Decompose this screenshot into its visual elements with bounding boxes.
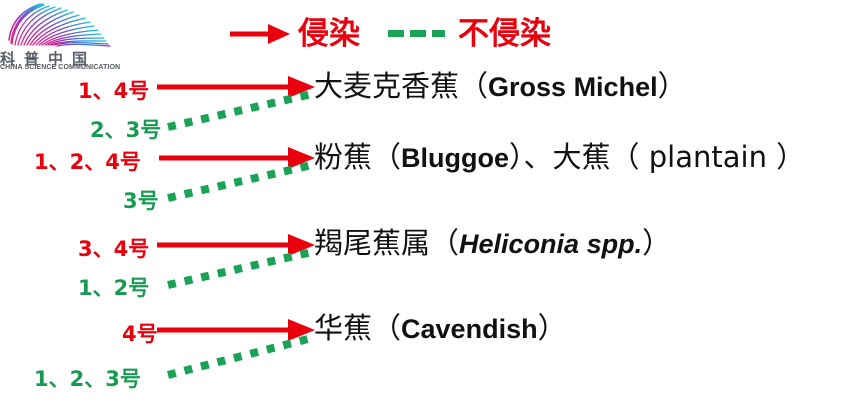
row-3-species: 羯尾蕉属（Heliconia spp.）: [314, 229, 671, 259]
legend-item-infect: 侵染: [228, 19, 360, 50]
legend-item-not-infect: 不侵染: [386, 19, 551, 50]
row-3-species-cn: 羯尾蕉属: [314, 226, 430, 260]
row-2-species-latin: Bluggoe: [401, 143, 509, 173]
infect-arrow-row-2: [159, 147, 315, 169]
not-infect-dashed-row-1: [168, 94, 312, 127]
row-4-infect-races-label: 4号: [122, 324, 158, 345]
row-3-species-open-paren: （: [430, 226, 459, 260]
row-4-species-close-paren: ）: [538, 311, 567, 345]
not-infect-dashed-row-3: [168, 252, 312, 285]
infect-arrow-row-1: [157, 76, 315, 98]
row-2-not-infect-races-label: 3号: [123, 191, 159, 212]
infect-arrow-row-3: [157, 234, 315, 256]
not-infect-dashed-row-4: [168, 338, 312, 375]
infect-arrow-row-4: [157, 319, 315, 341]
row-2-species-close-paren: ）: [509, 140, 524, 174]
row-4-species-open-paren: （: [372, 311, 401, 345]
row-3-infect-races-label: 3、4号: [78, 239, 149, 260]
row-1-species-close-paren: ）: [658, 69, 687, 103]
not-infect-dashed-row-2: [168, 165, 312, 198]
row-3-species-latin: Heliconia spp.: [459, 229, 642, 259]
row-2-species-open-paren: （: [372, 140, 401, 174]
diagram-canvas: 科普中国 CHINA SCIENCE COMMUNICATION 侵染: [0, 0, 862, 404]
row-4-species-cn: 华蕉: [314, 311, 372, 345]
row-1-infect-races-label: 1、4号: [78, 81, 149, 102]
row-3-not-infect-races-label: 1、2号: [78, 278, 149, 299]
legend-label-not-infect: 不侵染: [458, 19, 551, 50]
row-2-species-cn: 粉蕉: [314, 140, 372, 174]
legend-label-infect: 侵染: [298, 19, 360, 50]
row-4-species: 华蕉（Cavendish）: [314, 314, 567, 344]
row-3-species-close-paren: ）: [642, 226, 671, 260]
red-solid-arrow-icon: [228, 19, 292, 49]
logo-english-text: CHINA SCIENCE COMMUNICATION: [0, 64, 130, 71]
row-1-species-open-paren: （: [459, 69, 488, 103]
china-science-communication-logo: 科普中国 CHINA SCIENCE COMMUNICATION: [0, 0, 132, 74]
row-4-not-infect-races-label: 1、2、3号: [34, 369, 141, 390]
row-4-species-latin: Cavendish: [401, 314, 538, 344]
row-1-species-cn: 大麦克香蕉: [314, 69, 459, 103]
row-1-species-latin: Gross Michel: [488, 72, 658, 102]
row-2-species: 粉蕉（Bluggoe）、大蕉（ plantain ）: [314, 143, 805, 173]
row-1-species: 大麦克香蕉（Gross Michel）: [314, 72, 687, 102]
legend: 侵染 不侵染: [228, 12, 551, 56]
row-1-not-infect-races-label: 2、3号: [90, 120, 161, 141]
row-2-infect-races-label: 1、2、4号: [34, 152, 141, 173]
green-dashed-line-icon: [386, 19, 452, 49]
row-2-species-extra: 、大蕉（ plantain ）: [524, 140, 806, 174]
